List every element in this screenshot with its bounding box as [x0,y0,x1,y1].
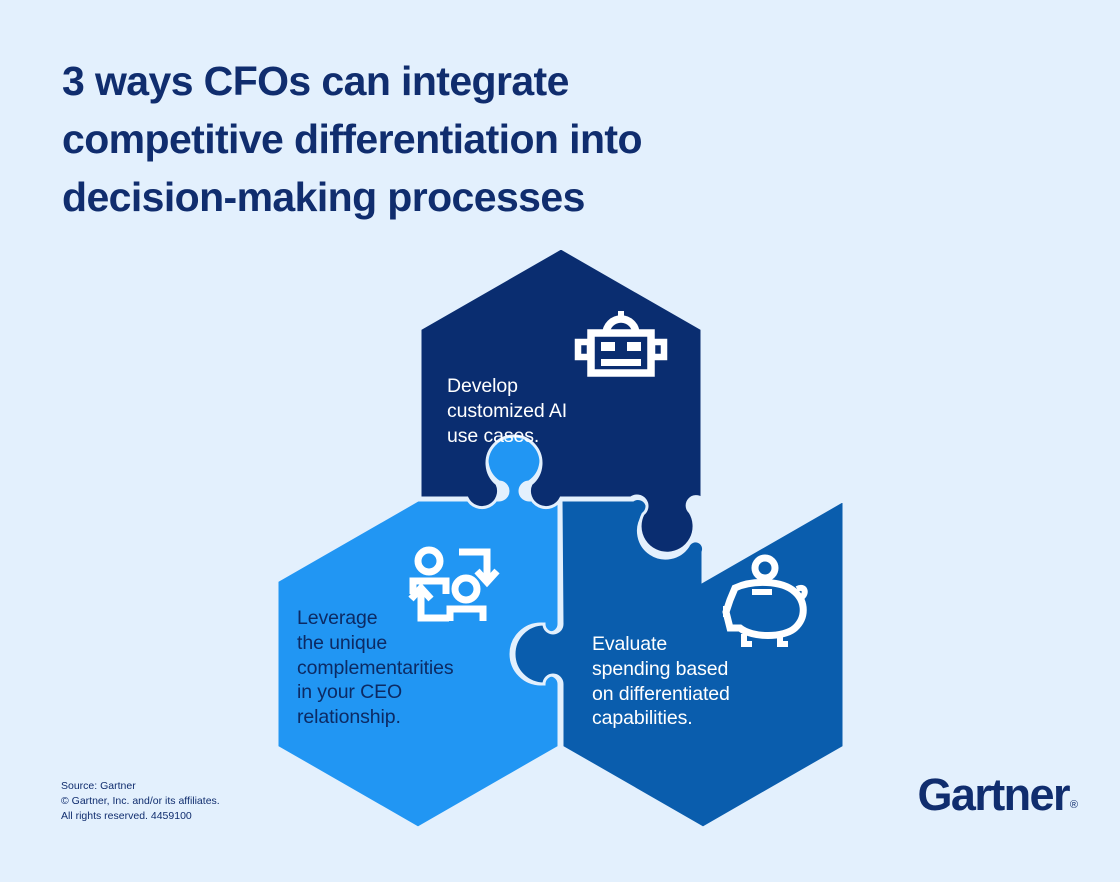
piece-label-develop-customized-ai: Develop customized AI use cases. [447,374,657,448]
piece-label-leverage-ceo-relationship: Leverage the unique complementarities in… [297,606,512,730]
piece-label-evaluate-spending: Evaluate spending based on differentiate… [592,632,807,731]
infographic-canvas: 3 ways CFOs can integrate competitive di… [0,0,1120,882]
registered-trademark-icon: ® [1070,800,1078,811]
gartner-logo: Gartner ® [918,772,1078,817]
source-attribution: Source: Gartner © Gartner, Inc. and/or i… [61,779,220,824]
gartner-wordmark: Gartner [918,772,1069,817]
